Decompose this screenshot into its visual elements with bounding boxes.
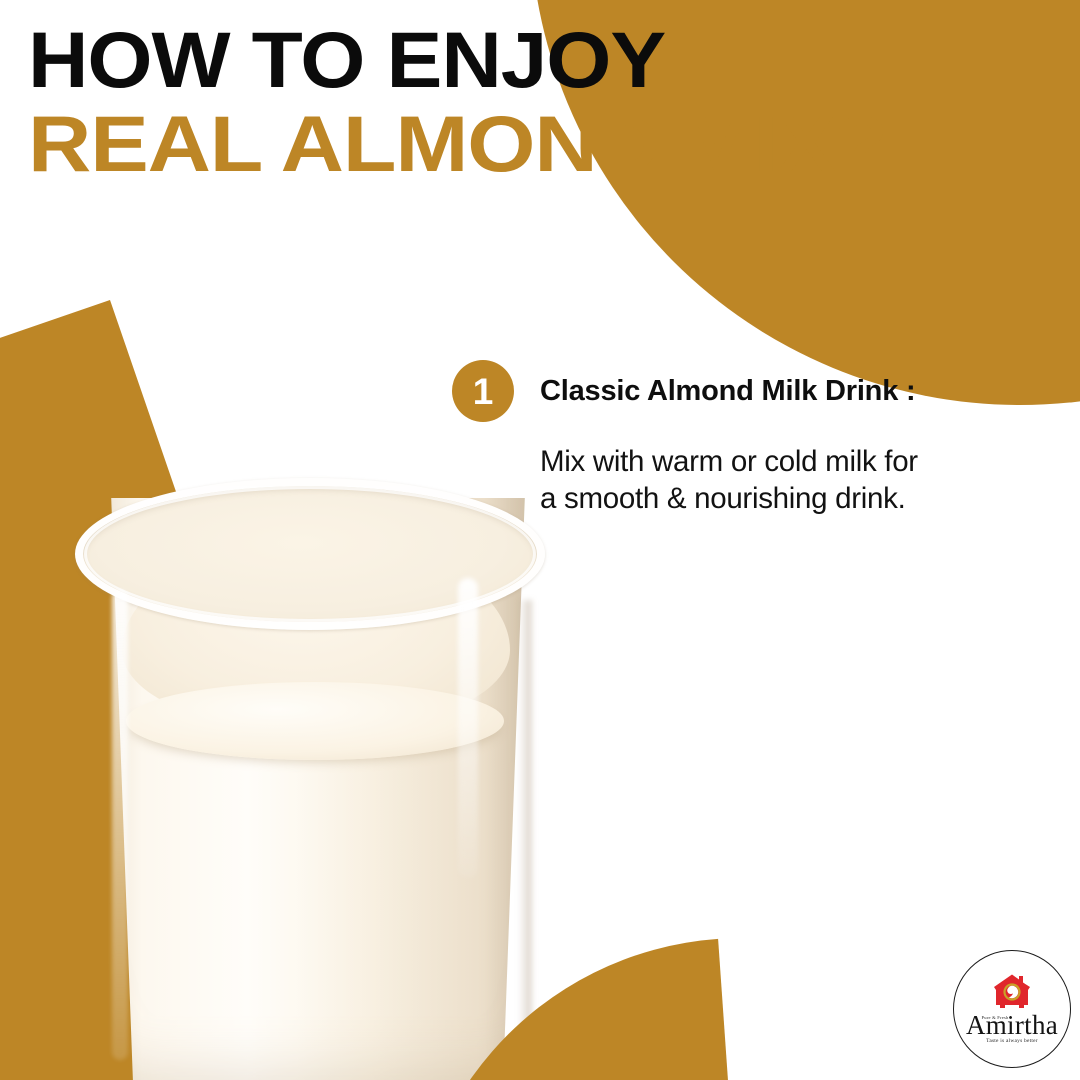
house-icon <box>993 974 1031 1015</box>
step-header-row: 1 Classic Almond Milk Drink : <box>452 360 1052 422</box>
milk-surface <box>126 682 504 760</box>
glass-highlight-left <box>112 590 128 1060</box>
step-description-line-1: Mix with warm or cold milk for <box>540 444 1052 481</box>
headline-block: HOW TO ENJOY REAL ALMOND MIX? <box>28 22 988 182</box>
brand-logo: Pure & Fresh Amirtha Taste is always bet… <box>953 950 1071 1068</box>
poster-canvas: HOW TO ENJOY REAL ALMOND MIX? 1 Classic … <box>0 0 1080 1080</box>
step-number-badge: 1 <box>452 360 514 422</box>
headline-line-1: HOW TO ENJOY <box>28 22 1046 98</box>
headline-line-2: REAL ALMOND MIX? <box>28 106 1080 182</box>
logo-tagline: Taste is always better <box>986 1038 1038 1044</box>
glass-edge-shadow-right <box>518 600 532 1040</box>
glass-of-almond-milk-image <box>70 470 550 1080</box>
glass-highlight-right <box>458 578 478 878</box>
logo-brand-name: Amirtha <box>966 1013 1058 1037</box>
step-item-1: 1 Classic Almond Milk Drink : Mix with w… <box>452 360 1052 517</box>
step-title: Classic Almond Milk Drink : <box>540 375 915 408</box>
step-description-line-2: a smooth & nourishing drink. <box>540 481 1052 518</box>
step-description: Mix with warm or cold milk for a smooth … <box>540 444 1052 517</box>
